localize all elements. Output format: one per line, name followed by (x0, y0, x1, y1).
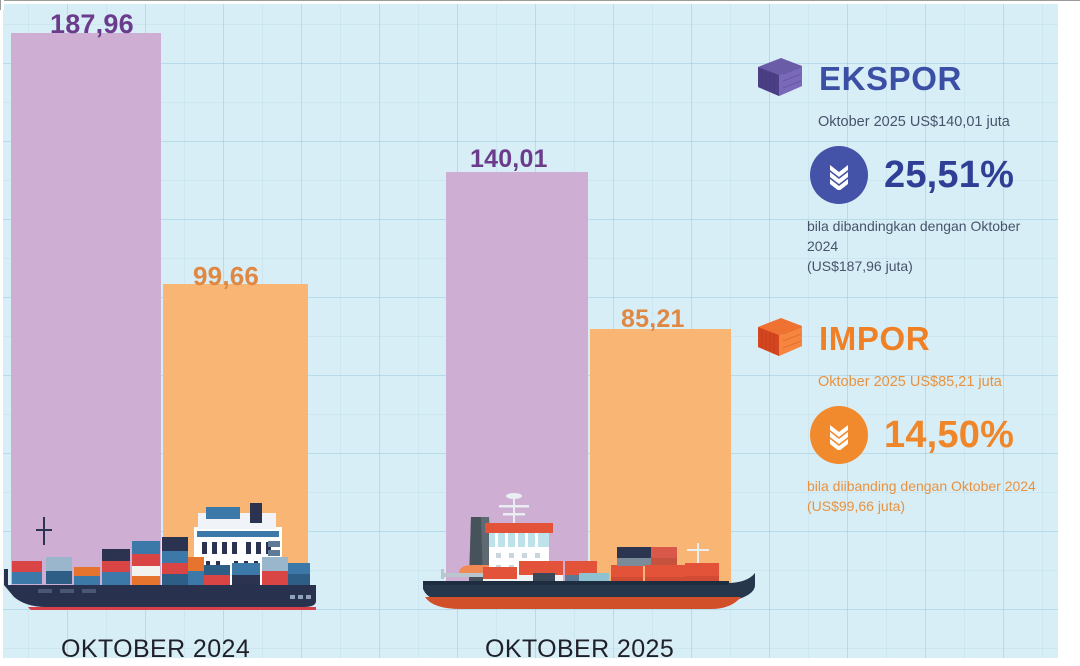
bar-label-impor-2025: 85,21 (621, 305, 685, 334)
window-frame-top-edge (0, 0, 1080, 4)
impor-decrease-badge (810, 406, 868, 464)
panel-ekspor: EKSPOR Oktober 2025 US$140,01 juta 25,51… (755, 55, 1045, 277)
triple-chevron-down-icon (824, 420, 854, 450)
infographic-root: 187,96 99,66 140,01 85,21 (0, 0, 1080, 666)
panel-ekspor-percent-row: 25,51% (810, 146, 1045, 204)
ekspor-decrease-badge (810, 146, 868, 204)
infographic-canvas: 187,96 99,66 140,01 85,21 (3, 3, 1058, 658)
panel-impor-header: IMPOR (755, 315, 1045, 361)
panel-ekspor-subtitle: Oktober 2025 US$140,01 juta (818, 113, 1045, 132)
panel-impor-subtitle: Oktober 2025 US$85,21 juta (818, 373, 1045, 392)
triple-chevron-down-icon (824, 160, 854, 190)
bar-label-ekspor-2024: 187,96 (50, 9, 134, 40)
bar-label-ekspor-2025: 140,01 (470, 145, 548, 174)
panel-ekspor-footnote-line1: bila dibandingkan dengan Oktober 2024 (807, 216, 1045, 257)
panel-impor-footnote-line1: bila diibanding dengan Oktober 2024 (807, 476, 1045, 496)
panel-impor-percent: 14,50% (884, 416, 1014, 454)
container-ship-right-facing-icon (411, 485, 761, 611)
panel-ekspor-footnote-line2: (US$187,96 juta) (807, 256, 1045, 276)
panel-impor-footnote-line2: (US$99,66 juta) (807, 496, 1045, 516)
window-frame-left-edge (0, 0, 4, 10)
panel-impor-footnote: bila diibanding dengan Oktober 2024 (US$… (807, 476, 1045, 517)
panel-impor: IMPOR Oktober 2025 US$85,21 juta 14,50% … (755, 315, 1045, 516)
container-icon-orange (755, 315, 805, 361)
axis-label-oktober-2024: OKTOBER 2024 (61, 635, 250, 658)
axis-label-oktober-2025: OKTOBER 2025 (485, 635, 674, 658)
container-icon-purple (755, 55, 805, 101)
panel-ekspor-title: EKSPOR (819, 62, 962, 95)
container-ship-left-facing-icon (3, 495, 333, 610)
bar-label-impor-2024: 99,66 (193, 261, 259, 292)
panel-ekspor-footnote: bila dibandingkan dengan Oktober 2024 (U… (807, 216, 1045, 277)
panel-impor-percent-row: 14,50% (810, 406, 1045, 464)
panel-ekspor-percent: 25,51% (884, 156, 1014, 194)
panel-ekspor-header: EKSPOR (755, 55, 1045, 101)
panel-impor-title: IMPOR (819, 322, 930, 355)
